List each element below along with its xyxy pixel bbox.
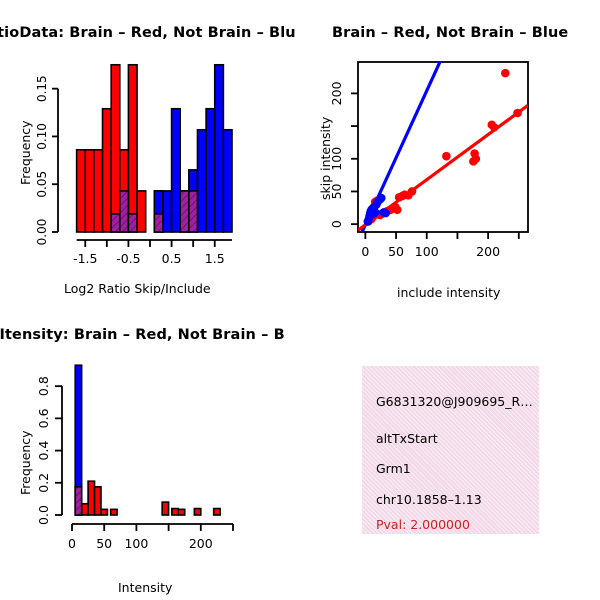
- histogram-bar: [223, 130, 232, 232]
- tick-label: 200: [476, 244, 500, 259]
- scatter-plot: 050100200050100200: [300, 0, 600, 280]
- tick-label: 0.4: [36, 441, 51, 461]
- histogram-bar: [94, 150, 103, 232]
- histogram-bar: [163, 191, 172, 232]
- histogram-bar: [178, 509, 184, 515]
- ratio-histogram-plot: 0.000.050.100.15-1.5-0.50.51.5: [0, 0, 300, 270]
- histogram-bar: [85, 150, 94, 232]
- scatter-point: [513, 109, 522, 118]
- tick-label: 0.00: [35, 219, 49, 246]
- feature-info-panel: G6831320@J909695_R… altTxStart Grm1 chr1…: [362, 366, 539, 534]
- ratio-bars: [77, 65, 232, 232]
- scatter-point: [371, 208, 380, 217]
- histogram-bar: [111, 65, 120, 232]
- histogram-bar: [128, 65, 137, 232]
- tick-label: 200: [329, 81, 344, 105]
- tick-label: 0.8: [36, 376, 51, 396]
- tick-label: -0.5: [116, 251, 140, 266]
- histogram-bar: [162, 502, 168, 515]
- scatter-point: [490, 123, 499, 132]
- intensity-axes: 0.00.20.40.60.8050100200: [36, 376, 233, 551]
- info-line-probe: G6831320@J909695_R…: [376, 394, 533, 409]
- tick-label: 0.0: [36, 505, 51, 525]
- tick-label: 50: [329, 183, 344, 199]
- histogram-bar-overlap: [75, 487, 81, 515]
- scatter-point: [381, 209, 390, 218]
- intensity-scatter-panel: Brain – Red, Not Brain – Blue skip inten…: [300, 0, 600, 310]
- info-line-pval: Pval: 2.000000: [376, 517, 470, 532]
- histogram-bar: [111, 509, 117, 515]
- histogram-bar: [206, 109, 215, 232]
- tick-label: 0.5: [162, 251, 182, 266]
- histogram-bar-overlap: [128, 214, 137, 232]
- tick-label: 0: [361, 244, 369, 259]
- tick-label: 50: [96, 536, 112, 551]
- histogram-bar-overlap: [180, 191, 189, 232]
- histogram-bar-overlap: [154, 214, 163, 232]
- histogram-bar: [214, 509, 220, 515]
- regression-line: [358, 0, 528, 241]
- tick-label: 0.05: [35, 171, 49, 198]
- tick-label: 0.2: [36, 473, 51, 493]
- histogram-bar: [172, 509, 178, 515]
- tick-label: 0.10: [35, 123, 49, 150]
- histogram-bar: [88, 481, 94, 515]
- scatter-point: [377, 194, 386, 203]
- ratio-histogram-xlabel: Log2 Ratio Skip/Include: [64, 281, 211, 296]
- ratio-histogram-panel: RatioData: Brain – Red, Not Brain – Blu …: [0, 0, 300, 310]
- info-line-locus: chr10.1858–1.13: [376, 492, 482, 507]
- histogram-bar-overlap: [120, 191, 129, 232]
- scatter-point: [472, 154, 481, 163]
- tick-label: 0.15: [35, 75, 49, 102]
- scatter-point: [442, 152, 451, 161]
- histogram-bar-overlap: [111, 214, 120, 232]
- scatter-points: [358, 0, 528, 241]
- histogram-bar-overlap: [189, 191, 198, 232]
- tick-label: 100: [415, 244, 439, 259]
- intensity-histogram-panel: ne Itensity: Brain – Red, Not Brain – B …: [0, 310, 300, 600]
- scatter-point: [408, 187, 417, 196]
- intensity-histogram-xlabel: Intensity: [118, 580, 172, 595]
- plot-frame: [358, 62, 528, 232]
- info-line-event-type: altTxStart: [376, 431, 438, 446]
- info-line-gene: Grm1: [376, 461, 411, 476]
- histogram-bar: [172, 109, 181, 232]
- scatter-point: [501, 69, 510, 78]
- tick-label: 0.6: [36, 408, 51, 428]
- histogram-bar: [77, 150, 86, 232]
- histogram-bar: [82, 504, 88, 515]
- scatter-xlabel: include intensity: [397, 285, 500, 300]
- tick-label: 1.5: [205, 251, 225, 266]
- histogram-bar: [95, 487, 101, 515]
- intensity-bars: [75, 365, 220, 515]
- histogram-bar: [197, 130, 206, 232]
- histogram-bar: [215, 65, 224, 232]
- tick-label: 50: [388, 244, 404, 259]
- histogram-bar: [103, 109, 112, 232]
- tick-label: 0: [329, 220, 344, 228]
- histogram-bar: [194, 509, 200, 515]
- tick-label: 100: [329, 147, 344, 171]
- tick-label: 0: [68, 536, 76, 551]
- tick-label: 100: [124, 536, 148, 551]
- scatter-point: [393, 205, 402, 214]
- histogram-bar: [137, 191, 146, 232]
- tick-label: 200: [189, 536, 213, 551]
- tick-label: -1.5: [73, 251, 97, 266]
- histogram-bar: [101, 509, 107, 515]
- intensity-histogram-plot: 0.00.20.40.60.8050100200: [0, 310, 300, 570]
